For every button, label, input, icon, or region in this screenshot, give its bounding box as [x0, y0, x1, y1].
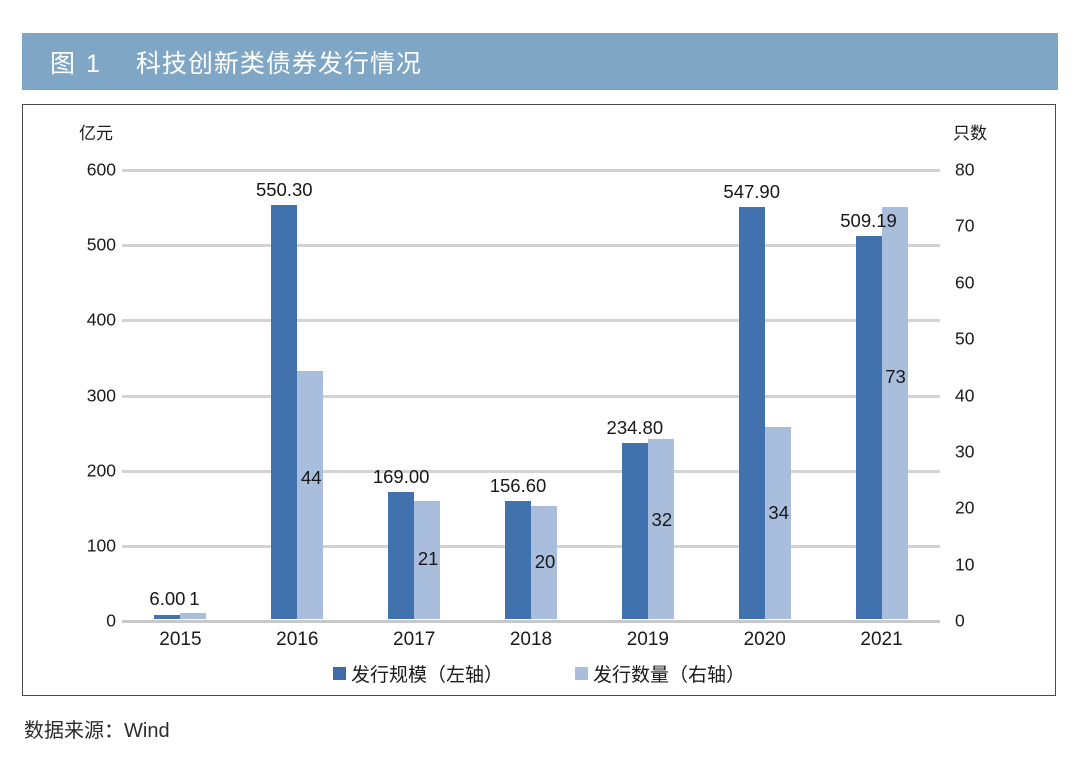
- gridline: [122, 395, 940, 398]
- legend-item-issuance-count[interactable]: 发行数量（右轴）: [575, 660, 745, 687]
- left-axis-tick-label: 600: [56, 160, 116, 181]
- left-axis-tick-label: 100: [56, 535, 116, 556]
- x-axis-tick-label: 2015: [159, 629, 201, 651]
- bar-value-label-issuance-count: 73: [885, 366, 906, 388]
- bar-issuance-scale[interactable]: [154, 615, 180, 620]
- gridline: [122, 470, 940, 473]
- legend-item-issuance-scale[interactable]: 发行规模（左轴）: [333, 660, 503, 687]
- bar-value-label-issuance-scale: 6.00: [149, 588, 185, 610]
- bar-value-label-issuance-scale: 169.00: [373, 466, 430, 488]
- bar-value-label-issuance-scale: 550.30: [256, 179, 313, 201]
- gridline: [122, 169, 940, 172]
- bar-issuance-scale[interactable]: [622, 443, 648, 619]
- bar-group: [271, 168, 323, 619]
- bar-group: [856, 168, 908, 619]
- figure-number: 图 1: [50, 44, 102, 80]
- bar-value-label-issuance-count: 32: [652, 509, 673, 531]
- legend-label-issuance-scale: 发行规模（左轴）: [351, 660, 503, 687]
- bar-issuance-count[interactable]: [297, 371, 323, 619]
- right-axis-tick-label: 0: [955, 611, 1015, 632]
- right-axis-tick-label: 20: [955, 498, 1015, 519]
- left-axis-tick-label: 500: [56, 235, 116, 256]
- left-axis-tick-label: 300: [56, 385, 116, 406]
- square-swatch-icon: [333, 667, 346, 680]
- bar-issuance-count[interactable]: [531, 506, 557, 619]
- chart-legend: 发行规模（左轴） 发行数量（右轴）: [23, 660, 1055, 687]
- x-axis-tick-label: 2016: [276, 629, 318, 651]
- bar-group: [388, 168, 440, 619]
- x-axis-tick-label: 2020: [744, 629, 786, 651]
- bar-value-label-issuance-count: 44: [301, 467, 322, 489]
- x-axis-tick-label: 2021: [860, 629, 902, 651]
- bar-group: [739, 168, 791, 619]
- bar-value-label-issuance-scale: 156.60: [490, 475, 547, 497]
- bar-issuance-count[interactable]: [648, 439, 674, 619]
- gridline: [122, 545, 940, 548]
- legend-label-issuance-count: 发行数量（右轴）: [593, 660, 745, 687]
- bars-layer: 6.0012015550.30442016169.00212017156.602…: [23, 105, 1055, 695]
- bar-value-label-issuance-count: 21: [418, 548, 439, 570]
- left-axis-unit-label: 亿元: [79, 119, 113, 144]
- bar-value-label-issuance-scale: 547.90: [723, 181, 780, 203]
- x-axis-tick-label: 2019: [627, 629, 669, 651]
- right-axis-tick-label: 10: [955, 554, 1015, 575]
- bar-issuance-count[interactable]: [765, 427, 791, 619]
- figure-title: 科技创新类债券发行情况: [136, 44, 422, 80]
- bar-value-label-issuance-scale: 509.19: [840, 210, 897, 232]
- bar-issuance-count[interactable]: [882, 207, 908, 619]
- bar-issuance-count[interactable]: [180, 613, 206, 619]
- x-axis-tick-label: 2017: [393, 629, 435, 651]
- square-swatch-icon: [575, 667, 588, 680]
- bar-group: [505, 168, 557, 619]
- bar-value-label-issuance-scale: 234.80: [607, 417, 664, 439]
- bar-value-label-issuance-count: 34: [768, 502, 789, 524]
- source-note: 数据来源：Wind: [24, 714, 170, 743]
- bar-issuance-count[interactable]: [414, 501, 440, 619]
- left-axis-tick-label: 0: [56, 611, 116, 632]
- right-axis-tick-label: 60: [955, 272, 1015, 293]
- figure-header-band: 图 1 科技创新类债券发行情况: [22, 33, 1058, 90]
- bar-issuance-scale[interactable]: [505, 501, 531, 619]
- gridlines-and-ticks: 010020030040050060001020304050607080: [23, 105, 1055, 695]
- left-axis-tick-label: 200: [56, 460, 116, 481]
- bar-group: [154, 168, 206, 619]
- right-axis-tick-label: 30: [955, 441, 1015, 462]
- gridline: [122, 620, 940, 623]
- gridline: [122, 319, 940, 322]
- right-axis-tick-label: 80: [955, 160, 1015, 181]
- left-axis-tick-label: 400: [56, 310, 116, 331]
- bar-value-label-issuance-count: 20: [535, 551, 556, 573]
- bar-value-label-issuance-count: 1: [189, 588, 199, 610]
- x-axis-tick-label: 2018: [510, 629, 552, 651]
- right-axis-tick-label: 50: [955, 329, 1015, 350]
- bar-issuance-scale[interactable]: [388, 492, 414, 619]
- gridline: [122, 244, 940, 247]
- right-axis-tick-label: 40: [955, 385, 1015, 406]
- right-axis-unit-label: 只数: [953, 119, 987, 144]
- right-axis-tick-label: 70: [955, 216, 1015, 237]
- bar-issuance-scale[interactable]: [739, 207, 765, 619]
- bar-group: [622, 168, 674, 619]
- bar-issuance-scale[interactable]: [271, 205, 297, 619]
- chart-plot-frame: 亿元 只数 0100200300400500600010203040506070…: [22, 104, 1056, 696]
- bar-issuance-scale[interactable]: [856, 236, 882, 619]
- figure-container: 图 1 科技创新类债券发行情况 亿元 只数 010020030040050060…: [0, 0, 1080, 759]
